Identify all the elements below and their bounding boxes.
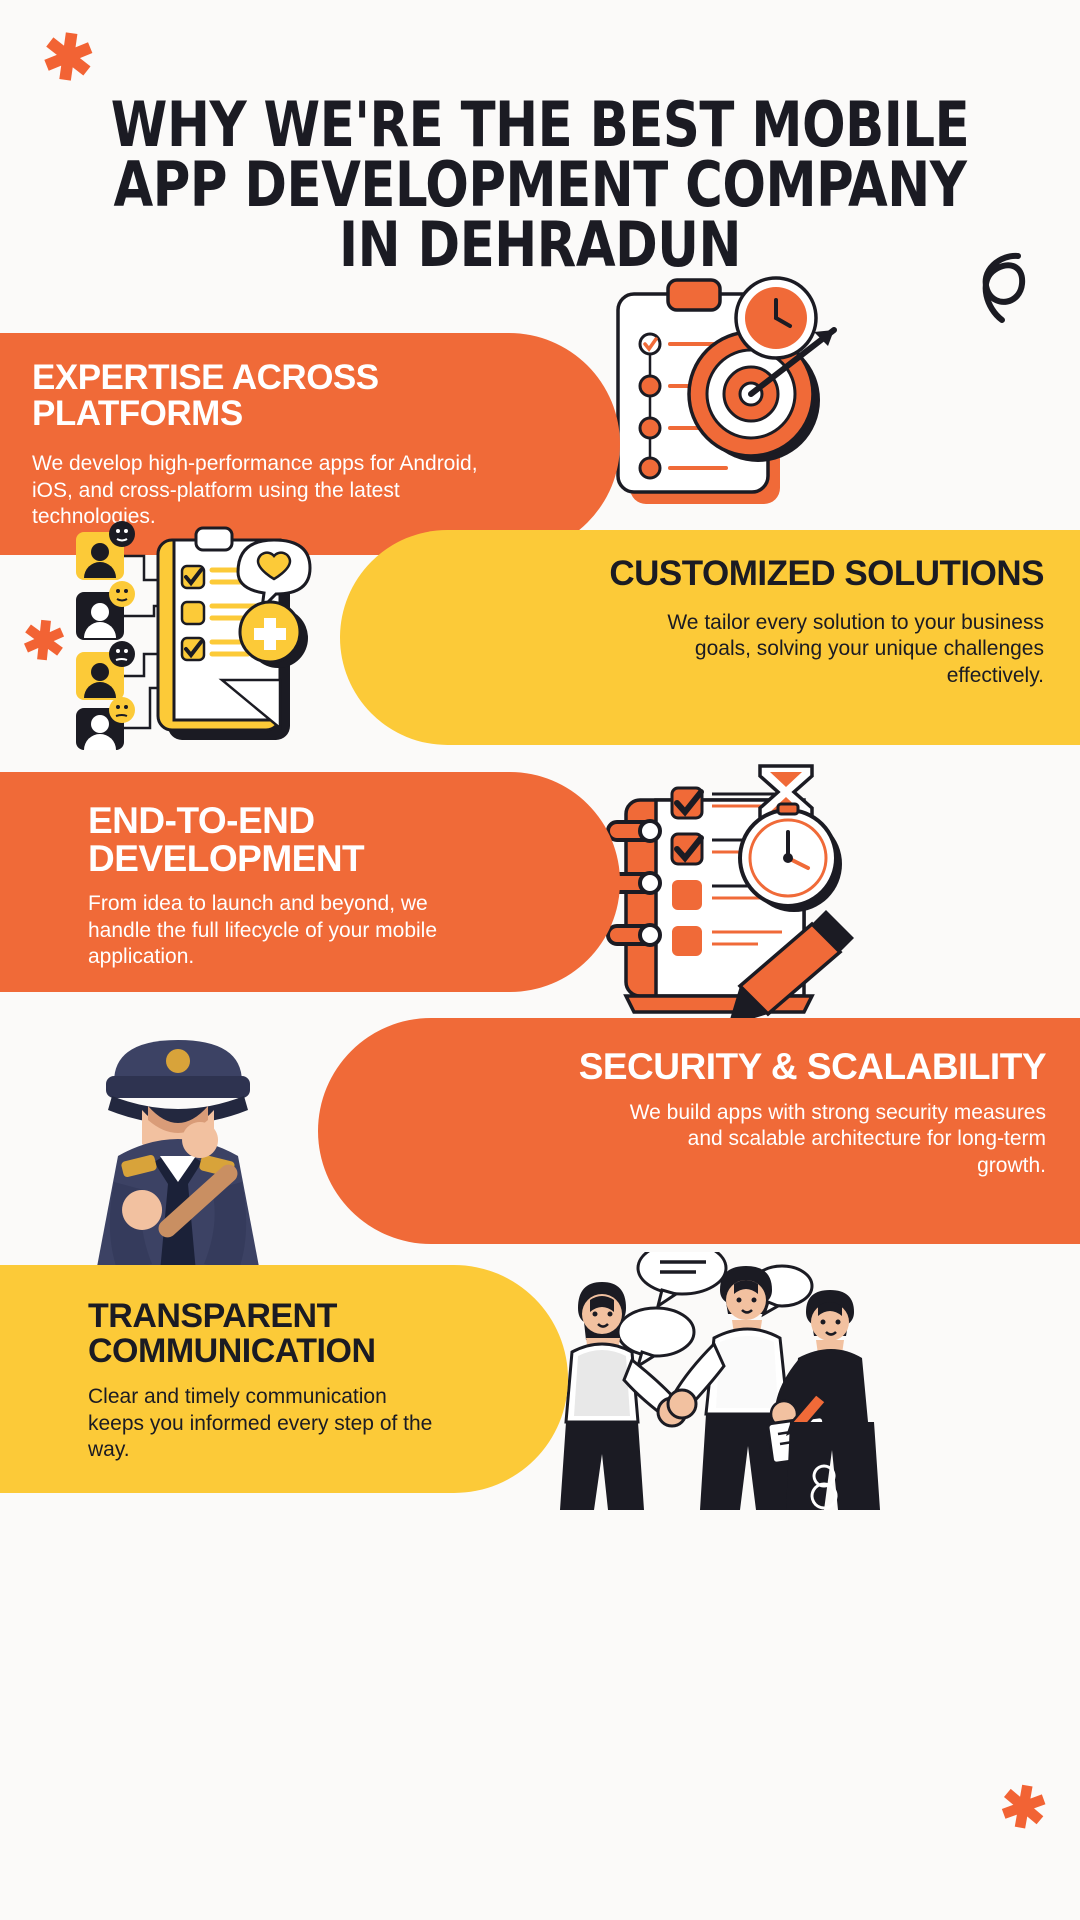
feature-card-1-body: We develop high-performance apps for And… <box>32 451 492 530</box>
clipboard-target-clock-illustration <box>596 268 846 528</box>
feature-card-3[interactable]: END-TO-END DEVELOPMENT From idea to laun… <box>0 772 620 992</box>
asterisk-mid-left-icon: ✱ <box>19 614 68 670</box>
asterisk-bottom-right-icon: ✱ <box>995 1776 1051 1839</box>
feature-card-1-heading: EXPERTISE ACROSS PLATFORMS <box>32 360 500 431</box>
feature-card-5[interactable]: TRANSPARENT COMMUNICATION Clear and time… <box>0 1265 568 1493</box>
team-checklist-feedback-illustration <box>70 520 320 750</box>
feature-card-5-body: Clear and timely communication keeps you… <box>88 1384 448 1463</box>
feature-card-4-heading: SECURITY & SCALABILITY <box>579 1048 1046 1086</box>
asterisk-top-left-icon: ✱ <box>38 25 98 94</box>
page-title-wrap: WHY WE'RE THE BEST MOBILE APP DEVELOPMEN… <box>0 95 1080 275</box>
page-title: WHY WE'RE THE BEST MOBILE APP DEVELOPMEN… <box>80 95 1000 275</box>
infographic-canvas: ✱ ✱ ✱ WHY WE'RE THE BEST MOBILE APP DEVE… <box>0 0 1080 1920</box>
notebook-stopwatch-pen-illustration <box>598 756 858 1022</box>
feature-card-3-body: From idea to launch and beyond, we handl… <box>88 891 488 970</box>
feature-card-4-body: We build apps with strong security measu… <box>626 1100 1046 1179</box>
feature-card-2[interactable]: CUSTOMIZED SOLUTIONS We tailor every sol… <box>340 530 1080 745</box>
feature-card-5-heading: TRANSPARENT COMMUNICATION <box>88 1299 448 1368</box>
feature-card-2-heading: CUSTOMIZED SOLUTIONS <box>609 556 1044 592</box>
feature-card-2-body: We tailor every solution to your busines… <box>624 610 1044 689</box>
people-conversation-illustration <box>560 1252 890 1512</box>
security-officer-illustration <box>52 1006 322 1272</box>
feature-card-4[interactable]: SECURITY & SCALABILITY We build apps wit… <box>318 1018 1080 1244</box>
feature-card-3-heading: END-TO-END DEVELOPMENT <box>88 802 500 877</box>
